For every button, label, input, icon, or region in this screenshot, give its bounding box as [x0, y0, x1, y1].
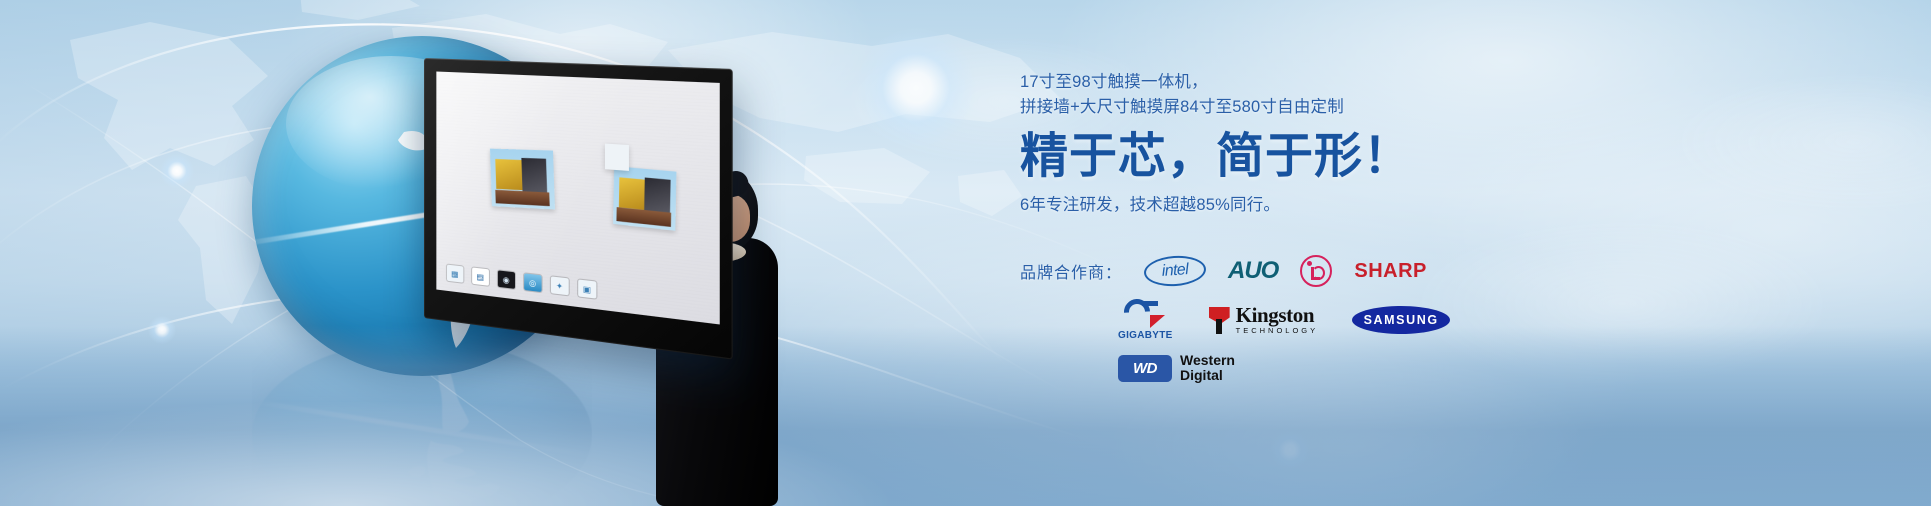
network-icon[interactable]: ✦ [551, 276, 569, 295]
lead-line-2: 拼接墙+大尺寸触摸屏84寸至580寸自由定制 [1020, 95, 1660, 120]
western-digital-logo[interactable]: WD Western Digital [1118, 353, 1235, 383]
gigabyte-logo-mark [1124, 299, 1166, 329]
kingston-logo-text: Kingston [1236, 305, 1319, 326]
touchscreen-display[interactable]: ▦ ▤ ◉ ◎ ✦ ▣ [424, 58, 733, 360]
photos-icon[interactable]: ▦ [447, 265, 463, 283]
promo-banner: ▦ ▤ ◉ ◎ ✦ ▣ 17寸至98寸触摸一体机， 拼接墙+大尺寸触摸屏84寸至… [0, 0, 1931, 506]
lg-logo-mark [1300, 255, 1332, 287]
photo-thumbnail-left[interactable] [490, 148, 555, 209]
document-icon[interactable]: ▤ [472, 267, 489, 285]
partner-logos: 品牌合作商： intel AUO SHARP [1020, 255, 1720, 395]
media-icon[interactable]: ◉ [498, 270, 515, 288]
kingston-logo-mark [1207, 305, 1233, 335]
photo-thumbnail-right[interactable] [613, 167, 677, 232]
gigabyte-logo-text: GIGABYTE [1118, 330, 1173, 341]
marketing-copy: 17寸至98寸触摸一体机， 拼接墙+大尺寸触摸屏84寸至580寸自由定制 精于芯… [1020, 70, 1660, 215]
headline: 精于芯，简于形！ [1020, 132, 1660, 183]
kingston-logo-subtext: TECHNOLOGY [1236, 327, 1319, 335]
partner-row-1: 品牌合作商： intel AUO SHARP [1020, 255, 1720, 287]
disc-icon[interactable]: ◎ [524, 273, 541, 292]
intel-logo-text: intel [1143, 254, 1207, 288]
photo-thumbnail-small[interactable] [605, 143, 628, 170]
auo-logo-text: AUO [1228, 257, 1278, 285]
subline: 6年专注研发，技术超越85%同行。 [1020, 191, 1660, 215]
intel-logo[interactable]: intel [1144, 256, 1206, 286]
display-screen[interactable]: ▦ ▤ ◉ ◎ ✦ ▣ [436, 71, 719, 324]
app-icon[interactable]: ▣ [578, 279, 596, 298]
sharp-logo-text: SHARP [1354, 260, 1427, 283]
partner-row-2: GIGABYTE Kingston TECHNOLOGY SAMSUNG [1020, 299, 1720, 341]
wd-logo-mark: WD [1118, 355, 1172, 382]
gigabyte-logo[interactable]: GIGABYTE [1118, 299, 1173, 341]
samsung-logo-text: SAMSUNG [1352, 306, 1450, 334]
partner-label: 品牌合作商： [1020, 259, 1122, 283]
lead-line-1: 17寸至98寸触摸一体机， [1020, 70, 1660, 95]
partner-row-3: WD Western Digital [1020, 353, 1720, 383]
wd-logo-line-2: Digital [1180, 368, 1235, 383]
wd-logo-line-1: Western [1180, 353, 1235, 368]
lg-logo[interactable] [1300, 255, 1332, 287]
kingston-logo[interactable]: Kingston TECHNOLOGY [1207, 305, 1319, 335]
sharp-logo[interactable]: SHARP [1354, 260, 1427, 283]
samsung-logo[interactable]: SAMSUNG [1352, 306, 1450, 334]
auo-logo[interactable]: AUO [1228, 257, 1278, 285]
